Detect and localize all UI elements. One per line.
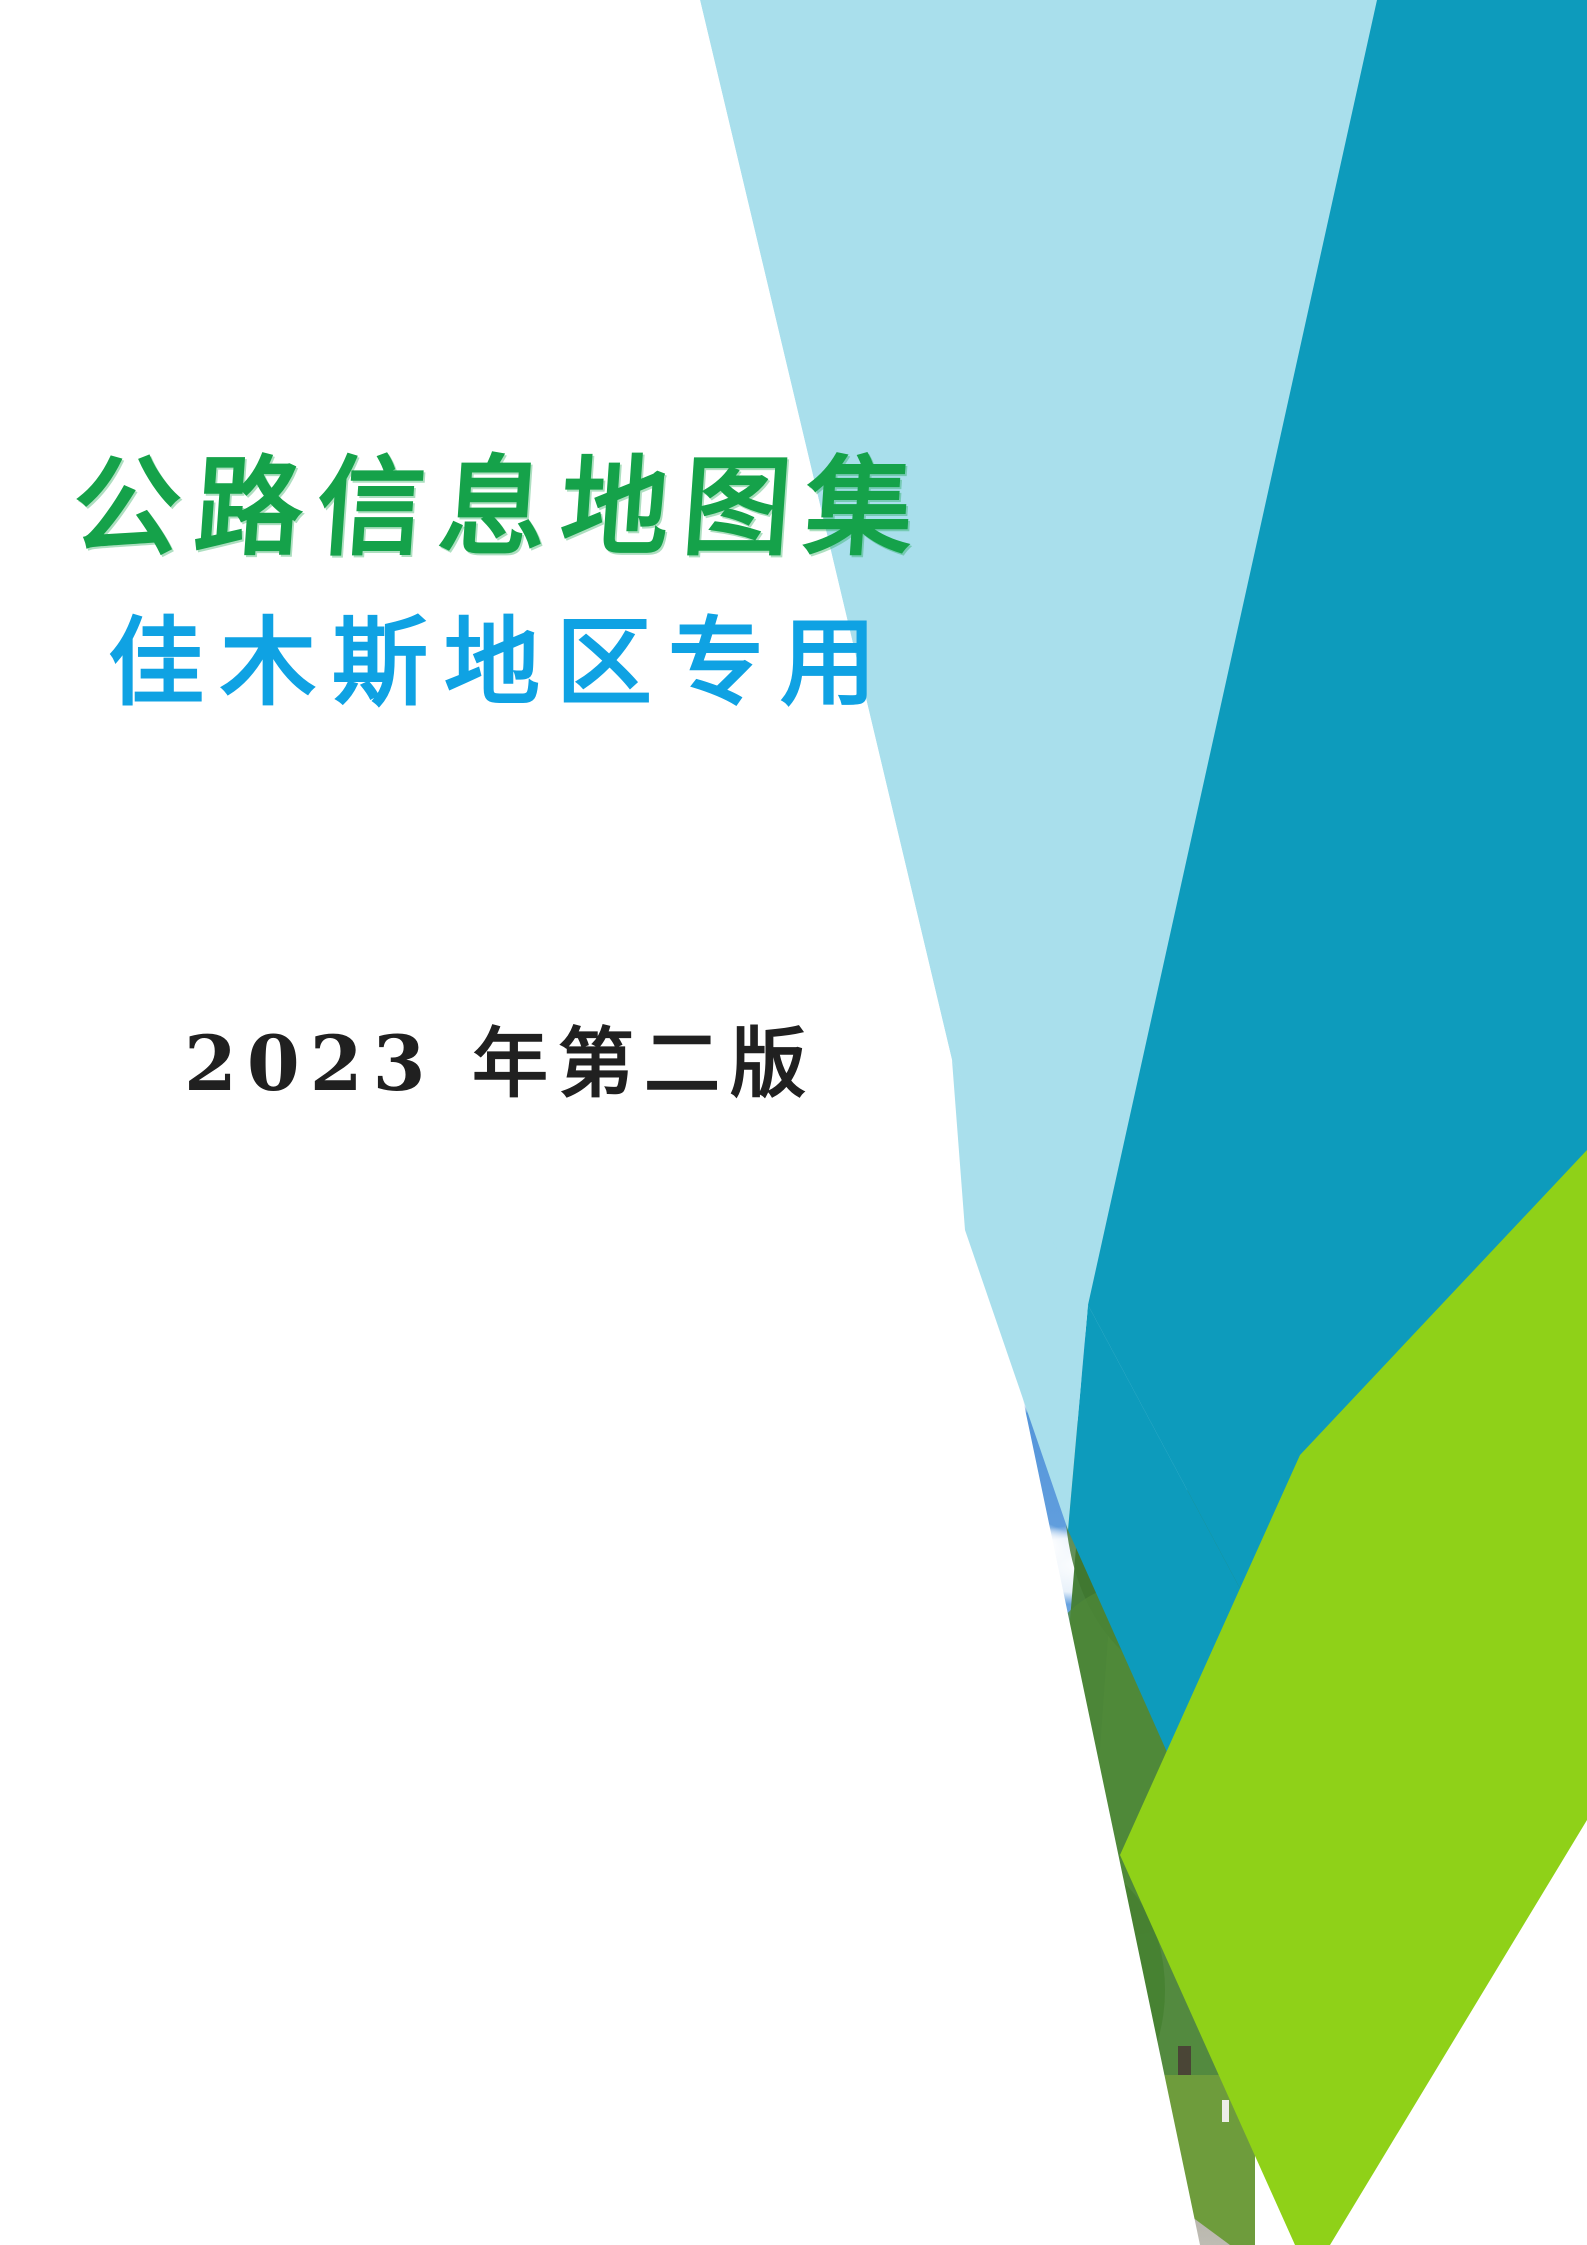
decoration-layer — [0, 0, 1587, 2245]
cover-page: 公路信息地图集 佳木斯地区专用 2023 年第二版 — [0, 0, 1587, 2245]
